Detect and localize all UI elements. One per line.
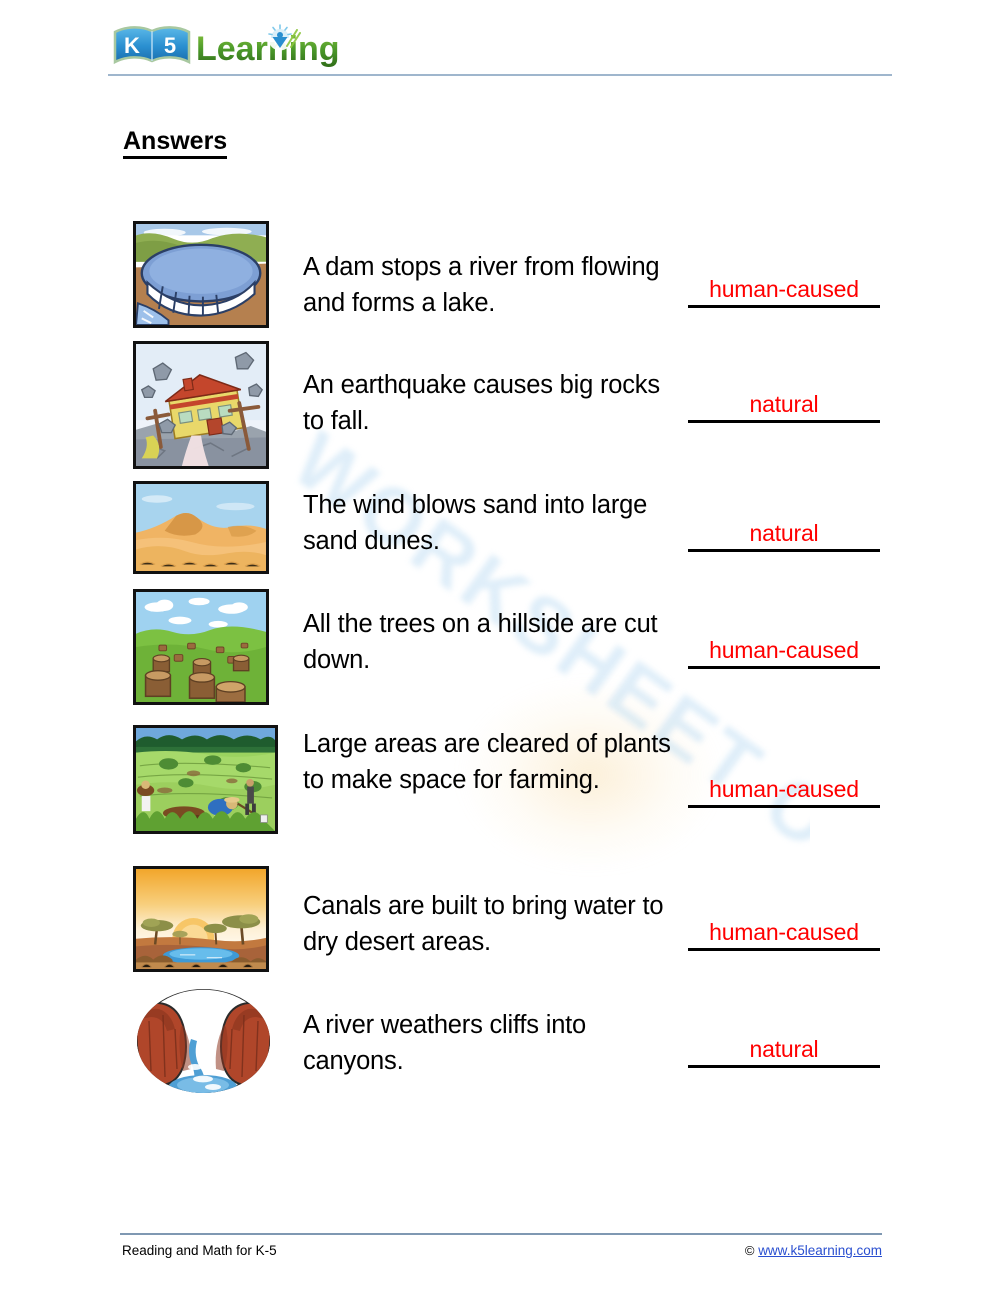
- statement-text: The wind blows sand into large sand dune…: [303, 487, 678, 559]
- sand-dunes-graphic: [136, 484, 266, 571]
- dam-lake-graphic: [136, 224, 266, 325]
- answer-text: human-caused: [688, 777, 880, 801]
- answer-line: [688, 420, 880, 423]
- footer-left-text: Reading and Math for K-5: [122, 1243, 277, 1258]
- answer-line: [688, 305, 880, 308]
- earthquake-falling-rocks-illustration: [133, 341, 269, 469]
- worksheet-page: K 5 Learning: [0, 0, 1000, 1294]
- answer-line: [688, 805, 880, 808]
- statement-text: All the trees on a hillside are cut down…: [303, 606, 678, 678]
- answer-line: [688, 666, 880, 669]
- answer-block: human-caused: [688, 638, 880, 669]
- desert-canal-graphic: [136, 869, 266, 969]
- river-canyon-illustration: [137, 989, 270, 1093]
- canyon-graphic: [137, 989, 270, 1093]
- answer-line: [688, 948, 880, 951]
- svg-text:5: 5: [164, 33, 176, 58]
- answer-text: human-caused: [688, 638, 880, 662]
- header-divider: [108, 74, 892, 76]
- answer-text: human-caused: [688, 920, 880, 944]
- svg-text:Learning: Learning: [196, 30, 340, 68]
- farmland-graphic: [136, 728, 275, 831]
- answer-block: human-caused: [688, 777, 880, 808]
- statement-text: Canals are built to bring water to dry d…: [303, 888, 678, 960]
- statement-text: An earthquake causes big rocks to fall.: [303, 367, 678, 439]
- tree-stumps-hillside-illustration: [133, 589, 269, 705]
- answer-text: human-caused: [688, 277, 880, 301]
- dam-lake-illustration: [133, 221, 269, 328]
- cleared-farmland-illustration: [133, 725, 278, 834]
- statement-text: Large areas are cleared of plants to mak…: [303, 726, 678, 798]
- svg-text:K: K: [124, 33, 140, 58]
- statement-text: A river weathers cliffs into canyons.: [303, 1007, 678, 1079]
- footer-right: © www.k5learning.com: [745, 1243, 882, 1258]
- k5learning-link[interactable]: www.k5learning.com: [758, 1243, 882, 1258]
- answer-block: natural: [688, 1037, 880, 1068]
- answer-block: natural: [688, 521, 880, 552]
- k5-learning-logo[interactable]: K 5 Learning: [112, 22, 347, 72]
- answer-text: natural: [688, 1037, 880, 1061]
- desert-canal-waterhole-illustration: [133, 866, 269, 972]
- copyright-icon: ©: [745, 1243, 755, 1258]
- page-title: Answers: [123, 128, 227, 159]
- earthquake-graphic: [136, 344, 266, 466]
- tree-stumps-graphic: [136, 592, 266, 702]
- answer-block: human-caused: [688, 277, 880, 308]
- answer-line: [688, 549, 880, 552]
- sand-dunes-illustration: [133, 481, 269, 574]
- answer-block: human-caused: [688, 920, 880, 951]
- statement-text: A dam stops a river from flowing and for…: [303, 249, 678, 321]
- answer-text: natural: [688, 521, 880, 545]
- footer-divider: [120, 1233, 882, 1235]
- answer-text: natural: [688, 392, 880, 416]
- answer-line: [688, 1065, 880, 1068]
- logo-graphic: K 5 Learning: [112, 22, 347, 72]
- answer-block: natural: [688, 392, 880, 423]
